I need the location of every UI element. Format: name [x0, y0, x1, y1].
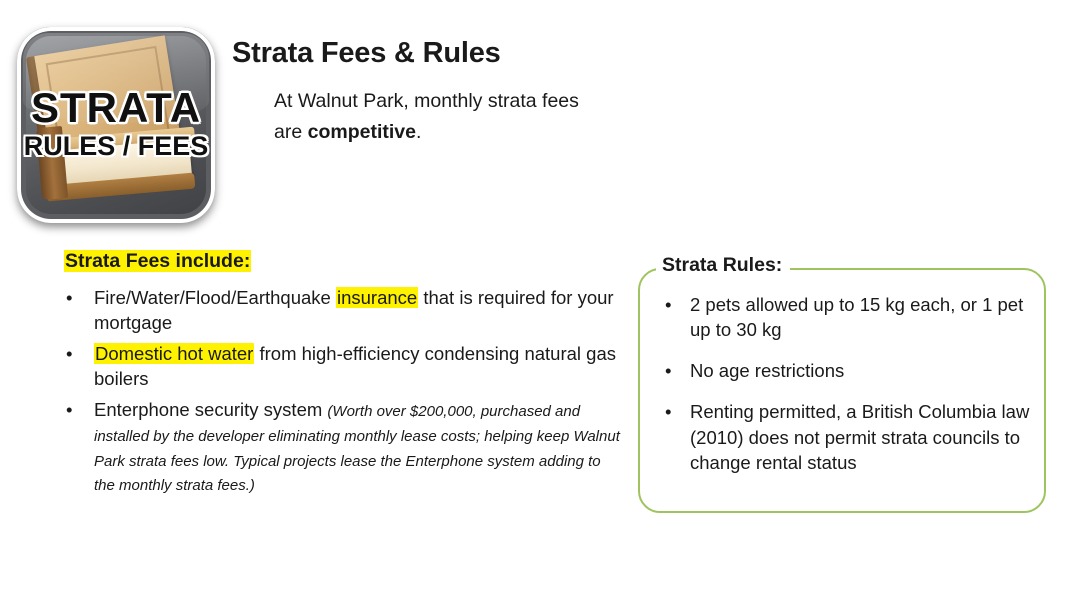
- rules-list-item: •2 pets allowed up to 15 kg each, or 1 p…: [656, 292, 1040, 342]
- fees-heading-row: Strata Fees include:: [64, 250, 624, 279]
- subtitle-line1: At Walnut Park, monthly strata fees: [274, 90, 579, 112]
- rules-title: Strata Rules:: [662, 256, 782, 276]
- fees-list: •Fire/Water/Flood/Earthquake insurance t…: [64, 286, 624, 497]
- fees-heading-text: Strata Fees include:: [64, 250, 251, 272]
- fees-list-item: •Enterphone security system (Worth over …: [64, 398, 624, 496]
- rules-list-item: •Renting permitted, a British Columbia l…: [656, 399, 1040, 474]
- strata-fees-column: Strata Fees include: •Fire/Water/Flood/E…: [64, 250, 624, 497]
- fees-item-highlight: insurance: [336, 287, 418, 308]
- fees-list-item: •Domestic hot water from high-efficiency…: [64, 342, 624, 391]
- strata-rules-fees-book-icon: STRATA RULES / FEES: [17, 27, 215, 223]
- fees-item-highlight: Domestic hot water: [94, 343, 254, 364]
- subtitle-line2-post: .: [416, 121, 421, 143]
- subtitle-line2-pre: are: [274, 121, 308, 143]
- bullet-icon: •: [66, 286, 72, 311]
- bullet-icon: •: [665, 358, 671, 383]
- header-block: Strata Fees & Rules At Walnut Park, mont…: [232, 38, 792, 149]
- rules-list: •2 pets allowed up to 15 kg each, or 1 p…: [656, 292, 1040, 491]
- icon-caption: STRATA RULES / FEES: [17, 87, 215, 160]
- fees-item-pre: Enterphone security system: [94, 399, 327, 420]
- fees-list-item: •Fire/Water/Flood/Earthquake insurance t…: [64, 286, 624, 335]
- page-title: Strata Fees & Rules: [232, 38, 792, 70]
- subtitle-emphasis: competitive: [308, 121, 416, 143]
- rules-item-text: No age restrictions: [690, 360, 844, 381]
- rules-title-wrap: Strata Rules:: [656, 256, 790, 276]
- subtitle: At Walnut Park, monthly strata fees are …: [274, 86, 792, 149]
- fees-heading: Strata Fees include:: [64, 250, 251, 273]
- fees-item-pre: Fire/Water/Flood/Earthquake: [94, 287, 336, 308]
- rules-item-text: 2 pets allowed up to 15 kg each, or 1 pe…: [690, 294, 1023, 340]
- bullet-icon: •: [66, 398, 72, 423]
- icon-caption-line1: STRATA: [17, 87, 215, 129]
- bullet-icon: •: [66, 342, 72, 367]
- bullet-icon: •: [665, 292, 671, 317]
- rules-list-item: •No age restrictions: [656, 358, 1040, 383]
- icon-caption-line2: RULES / FEES: [17, 133, 215, 160]
- bullet-icon: •: [665, 399, 671, 424]
- rules-item-text: Renting permitted, a British Columbia la…: [690, 401, 1029, 472]
